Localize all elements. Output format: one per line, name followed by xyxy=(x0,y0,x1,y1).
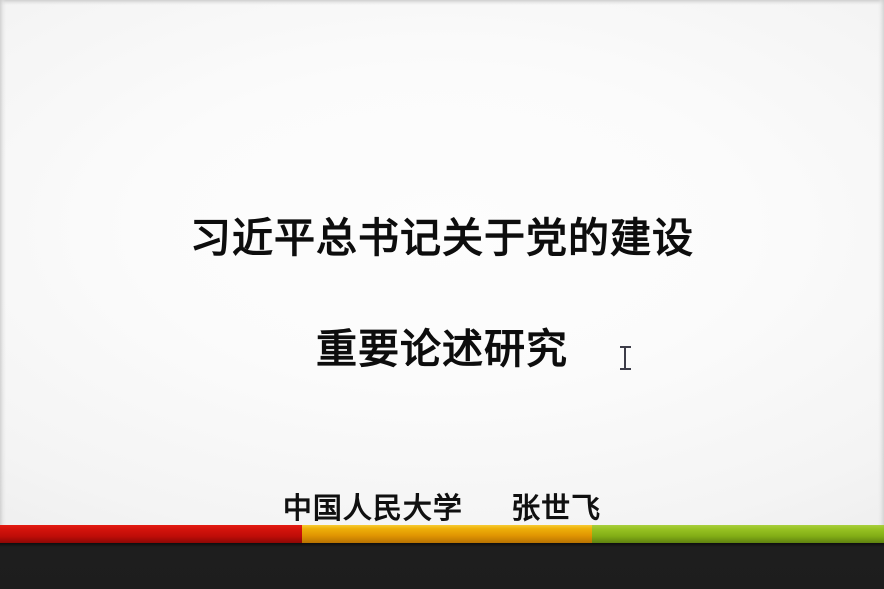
slide-edge-top xyxy=(0,0,884,5)
accent-segment-green xyxy=(592,525,884,543)
slide-title-line-1: 习近平总书记关于党的建设 xyxy=(0,206,884,270)
slide-author-block[interactable]: 中国人民大学 张世飞 xyxy=(0,490,884,526)
slide-canvas[interactable]: 习近平总书记关于党的建设 重要论述研究 中国人民大学 张世飞 xyxy=(0,0,884,543)
slide-title-line-2: 重要论述研究 xyxy=(0,317,884,381)
accent-segment-red xyxy=(0,525,302,543)
author-affiliation: 中国人民大学 xyxy=(283,491,463,525)
accent-color-bar xyxy=(0,525,884,543)
slide-title-block[interactable]: 习近平总书记关于党的建设 重要论述研究 xyxy=(0,206,884,381)
presentation-stage: 习近平总书记关于党的建设 重要论述研究 中国人民大学 张世飞 xyxy=(0,0,884,589)
accent-segment-gold xyxy=(302,525,592,543)
author-name: 张世飞 xyxy=(511,491,601,525)
